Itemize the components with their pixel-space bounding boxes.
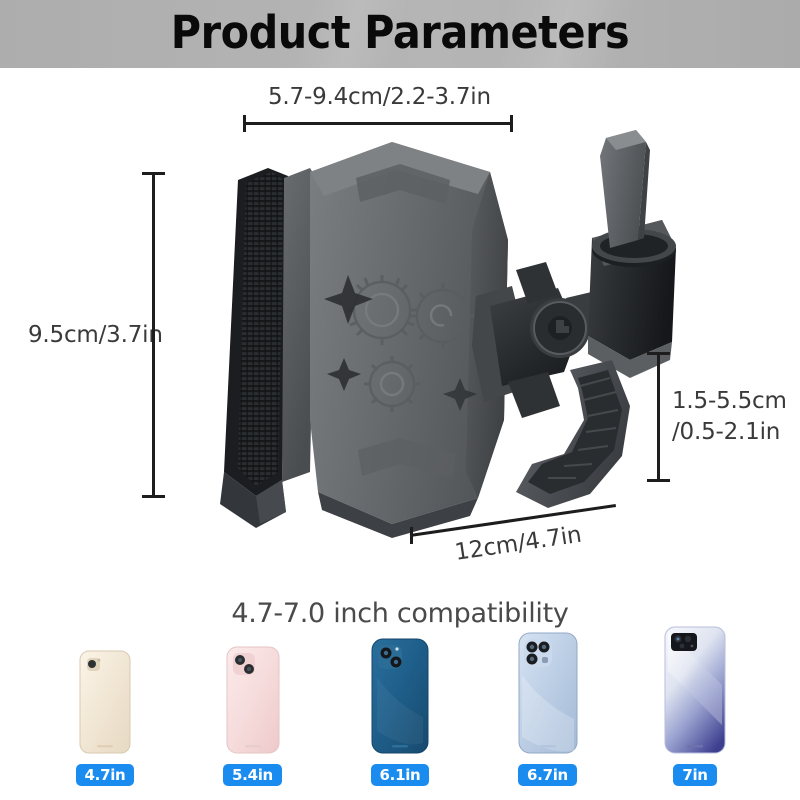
dimension-cap-depth-left: [410, 527, 413, 544]
size-badge: 6.7in: [518, 764, 577, 786]
phone-illustration-6-7: [516, 631, 580, 755]
list-item: 4.7in: [40, 649, 170, 786]
phone-illustration-5-4: [224, 645, 282, 755]
header-banner: Product Parameters: [0, 0, 800, 68]
dimension-rule-height: [152, 172, 155, 498]
product-illustration: [160, 120, 680, 540]
dimension-cap-bar-top: [647, 352, 670, 355]
size-badge: 4.7in: [76, 764, 135, 786]
size-badge: 5.4in: [223, 764, 282, 786]
page-title: Product Parameters: [32, 0, 768, 66]
dimension-cap-height-top: [142, 172, 165, 175]
dimension-rule-bar-diameter: [657, 352, 660, 482]
dimension-label-width: 5.7-9.4cm/2.2-3.7in: [268, 84, 491, 110]
list-item: 5.4in: [188, 645, 318, 786]
size-badge: 6.1in: [371, 764, 430, 786]
phone-illustration-7: [662, 625, 728, 755]
handlebar-collar: [588, 130, 676, 378]
dimension-cap-height-bottom: [142, 495, 165, 498]
list-item: 7in: [630, 625, 760, 786]
dimension-rule-width: [243, 122, 513, 125]
dimension-cap-width-left: [243, 115, 246, 132]
dimension-label-bar-diameter-in: /0.5-2.1in: [672, 419, 780, 445]
dimension-label-height: 9.5cm/3.7in: [28, 322, 163, 348]
size-badge: 7in: [673, 764, 716, 786]
dimension-cap-width-right: [510, 115, 513, 132]
dimension-cap-bar-bottom: [647, 479, 670, 482]
left-clamp-arm: [220, 168, 316, 528]
dimension-label-bar-diameter-cm: 1.5-5.5cm: [672, 388, 787, 414]
list-item: 6.1in: [335, 637, 465, 786]
phone-illustration-6-1: [369, 637, 431, 755]
phone-illustration-4-7: [77, 649, 133, 755]
list-item: 6.7in: [483, 631, 613, 786]
compatible-phone-list: 4.7in 5.4in: [40, 636, 760, 786]
dimension-label-bar-diameter: 1.5-5.5cm /0.5-2.1in: [672, 386, 787, 448]
